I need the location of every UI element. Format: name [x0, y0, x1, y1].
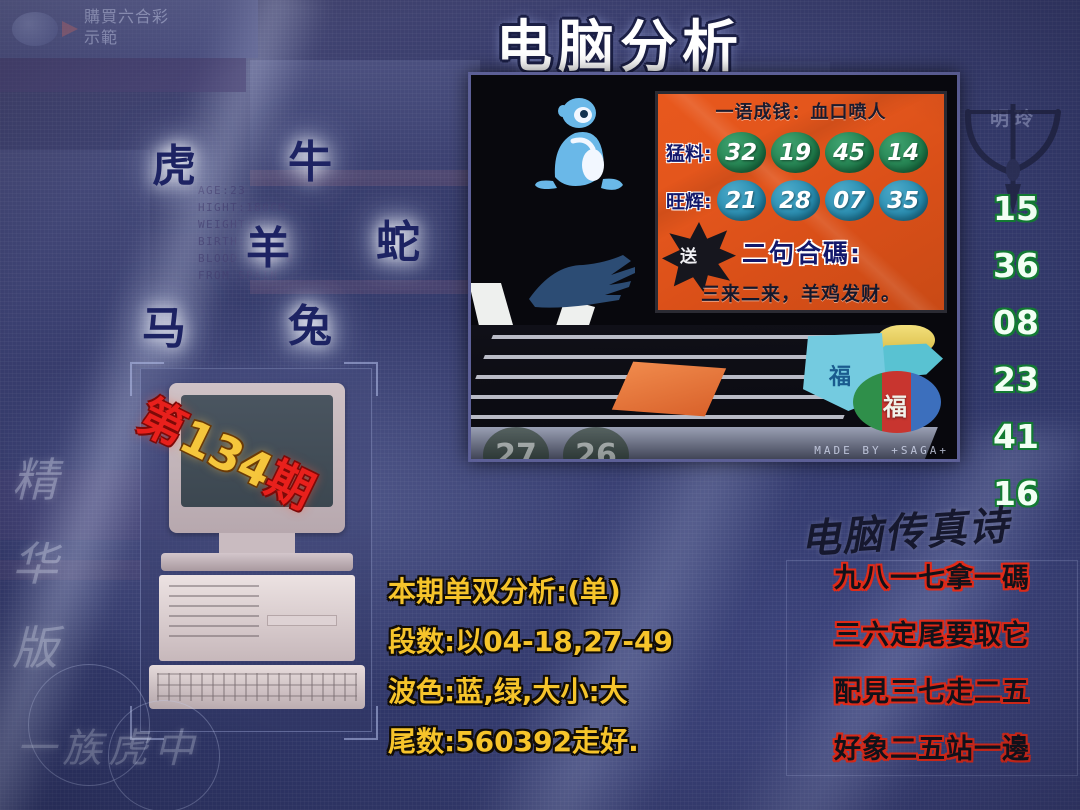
poster-ball: 14 — [879, 132, 928, 173]
analysis-line: 波色:蓝,绿,大小:大 — [388, 678, 788, 706]
analysis-line: 尾数:560392走好. — [388, 728, 788, 756]
poster-row-label: 旺辉: — [666, 187, 712, 214]
poster-ball: 32 — [717, 132, 766, 173]
zodiac-char-snake: 蛇 — [376, 206, 420, 270]
watermark-text: 購買六合彩 示範 — [84, 6, 254, 48]
poster-ball: 28 — [771, 180, 820, 221]
watermark-banner: 購買六合彩 示範 — [0, 0, 258, 58]
globe-icon — [12, 12, 58, 46]
poem-line: 配見三七走二五 — [787, 679, 1077, 706]
analysis-line: 本期单双分析:(单) — [388, 578, 788, 606]
poster-headline: 一语成钱：血口喷人 — [658, 98, 944, 124]
bottom-left-calligraphy: 一族虎中 — [16, 716, 200, 774]
poem-line: 好象二五站一邊 — [787, 736, 1077, 763]
frame-bracket-tr — [344, 362, 378, 396]
drive-slot — [267, 615, 337, 626]
frame-bracket-br — [344, 706, 378, 740]
zodiac-char-ox: 牛 — [288, 126, 332, 190]
lucky-number: 36 — [968, 249, 1064, 282]
analysis-line: 段数:以04-18,27-49 — [388, 628, 788, 656]
poem-line: 九八一七拿一碼 — [787, 565, 1077, 592]
keyboard-keys — [157, 673, 357, 701]
zodiac-char-tiger: 虎 — [152, 130, 196, 194]
poster-ball: 45 — [825, 132, 874, 173]
poster-row-label: 猛料: — [666, 139, 712, 166]
poster-ball: 07 — [825, 180, 874, 221]
spec-line: HIGHT:180CM — [198, 199, 388, 216]
left-calligraphy: 精华版 — [12, 438, 98, 690]
laptop-photo-panel: 一语成钱：血口喷人 猛料: 32 19 45 14 旺辉: 21 28 07 3… — [468, 72, 960, 462]
poster-row-green: 猛料: 32 19 45 14 — [666, 132, 928, 173]
zodiac-char-goat: 羊 — [246, 212, 290, 276]
watermark-bar — [0, 58, 246, 92]
spec-line: FROM SPAIN — [198, 267, 388, 284]
poster-row-blue: 旺辉: 21 28 07 35 — [666, 180, 928, 221]
spec-line: BIRTH: — [198, 233, 388, 250]
poster-footer: 三来二来，羊鸡发财。 — [658, 279, 944, 306]
lucky-number: 15 — [968, 192, 1064, 225]
poster-ball: 19 — [771, 132, 820, 173]
tower-label-text — [169, 585, 259, 637]
computer-tower — [159, 575, 355, 661]
poster-ball: 35 — [879, 180, 928, 221]
lucky-number: 08 — [968, 306, 1064, 339]
poster-ball: 21 — [717, 180, 766, 221]
lucky-number-column: 15 36 08 23 41 16 — [968, 192, 1064, 534]
play-arrow-icon — [62, 21, 78, 37]
poem-heading: 电脑传真诗 — [798, 489, 1071, 566]
poem-line: 三六定尾要取它 — [787, 622, 1077, 649]
zodiac-char-rabbit: 兔 — [288, 290, 332, 354]
spec-overlay: AGE:23 HIGHT:180CM WEIGHT: BIRTH: BLOOD … — [198, 182, 388, 284]
made-by-watermark: MADE BY +SAGA+ — [814, 444, 949, 457]
bg-slab-4 — [0, 150, 150, 360]
orange-poster: 一语成钱：血口喷人 猛料: 32 19 45 14 旺辉: 21 28 07 3… — [655, 91, 947, 313]
analysis-block: 本期单双分析:(单) 段数:以04-18,27-49 波色:蓝,绿,大小:大 尾… — [388, 578, 788, 778]
monkey-icon — [533, 93, 625, 201]
fu-ball-label: 福 — [883, 387, 907, 422]
lucky-number: 23 — [968, 363, 1064, 396]
poster-canvas: 購買六合彩 示範 电脑分析 AGE:23 HIGHT:180CM WEIGHT:… — [0, 0, 1080, 810]
fu-ball-icon: 福 — [853, 371, 941, 433]
poster-mid-label: 二句合碼: — [742, 234, 862, 270]
spec-line: BLOOD TYPE:B — [198, 250, 388, 267]
spec-line: WEIGHT: — [198, 216, 388, 233]
poster-star-label: 送 — [680, 242, 697, 267]
hand-silhouette-icon — [527, 253, 637, 309]
page-title: 电脑分析 — [420, 2, 820, 83]
lucky-number: 41 — [968, 420, 1064, 453]
poem-block: 九八一七拿一碼 三六定尾要取它 配見三七走二五 好象二五站一邊 — [786, 560, 1078, 776]
watermark-line-2: 示範 — [84, 27, 254, 48]
zodiac-char-horse: 马 — [142, 292, 186, 356]
fu-bag-label: 福 — [829, 359, 851, 391]
watermark-line-1: 購買六合彩 — [84, 6, 254, 27]
